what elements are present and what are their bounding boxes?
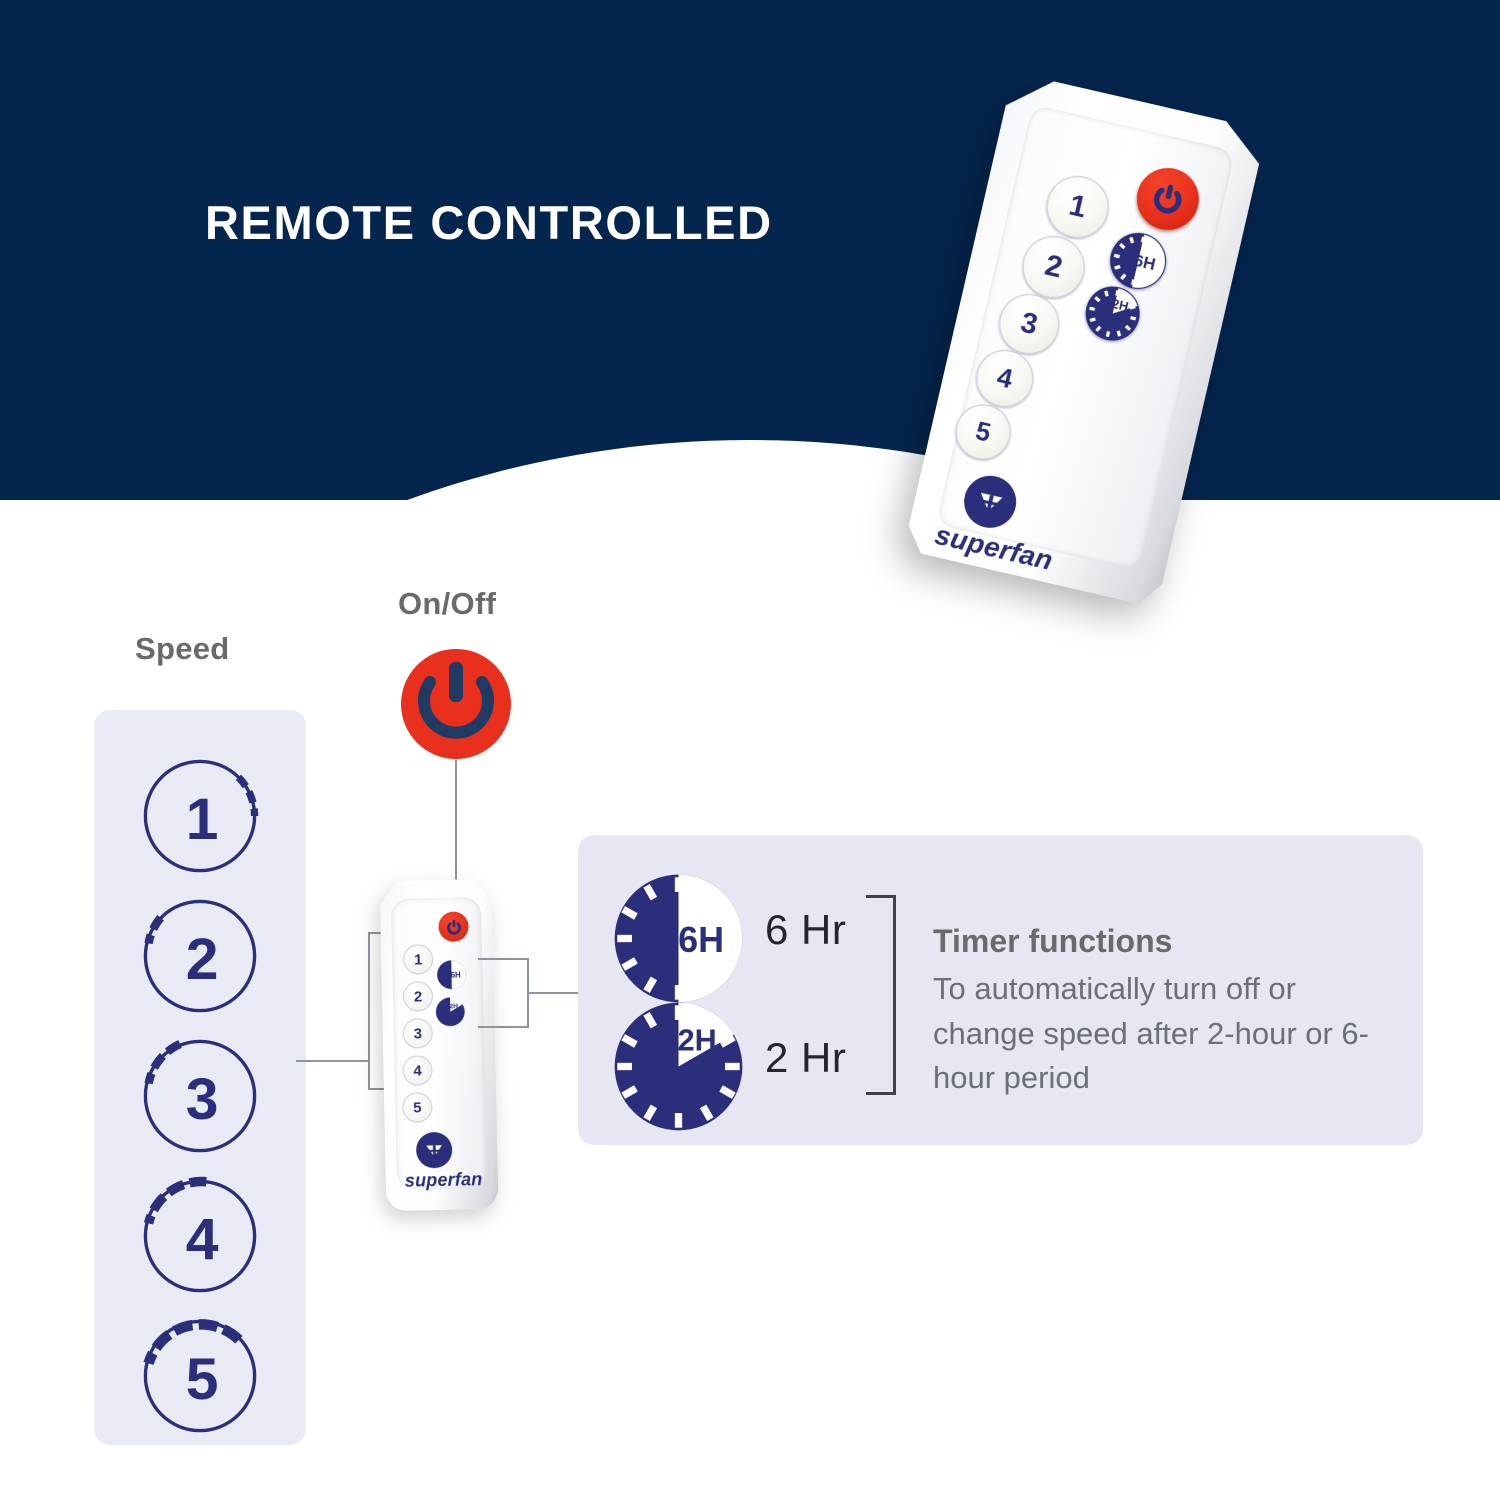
remote-speed-key-4[interactable]: 4 bbox=[971, 344, 1039, 412]
remote-brand-logo-mark bbox=[959, 471, 1021, 533]
mini-2h-badge: 2H bbox=[450, 1003, 459, 1010]
mini-key-1-label: 1 bbox=[414, 951, 423, 968]
speed-chip-5-label: 5 bbox=[186, 1347, 219, 1412]
timers-group-bracket-top bbox=[866, 895, 896, 898]
mini-remote-timer-key-2h[interactable]: 2H bbox=[435, 996, 466, 1027]
speed-chip-2: 2 bbox=[137, 893, 263, 1019]
timer-bracket-bottom-stem bbox=[478, 1026, 528, 1028]
remote-power-key[interactable] bbox=[1131, 162, 1205, 236]
mini-remote-device: 1 2 3 4 5 6H 2H bbox=[380, 879, 499, 1211]
onoff-label: On/Off bbox=[398, 582, 496, 627]
speed-chip-2-label: 2 bbox=[186, 927, 219, 992]
mini-remote-timer-key-6h[interactable]: 6H bbox=[436, 959, 467, 990]
remote-speed-key-3-label: 3 bbox=[1018, 306, 1041, 342]
power-icon bbox=[445, 918, 462, 935]
mini-key-4-label: 4 bbox=[413, 1062, 422, 1079]
speed-chip-3: 3 bbox=[137, 1033, 263, 1159]
speed-chip-1-label: 1 bbox=[186, 787, 219, 852]
timer-label-6h: 6 Hr bbox=[765, 906, 846, 954]
page-title: REMOTE CONTROLLED bbox=[205, 195, 773, 250]
timer-2h-icon: 2H bbox=[435, 996, 466, 1027]
timer-bracket-top-stem bbox=[478, 958, 528, 960]
timers-group-bracket-vertical bbox=[893, 895, 896, 1095]
remote-speed-key-4-label: 4 bbox=[994, 362, 1016, 396]
remote-timer-key-6h[interactable]: 6H bbox=[1105, 227, 1172, 294]
mini-remote-brand-wordmark: superfan bbox=[405, 1169, 483, 1192]
speed-bracket-stem bbox=[296, 1060, 370, 1062]
superfan-logo-icon bbox=[422, 1138, 446, 1162]
remote-speed-key-5[interactable]: 5 bbox=[950, 399, 1016, 465]
remote-speed-key-1[interactable]: 1 bbox=[1041, 170, 1115, 244]
speed-bracket-vertical bbox=[368, 932, 370, 1090]
superfan-logo-icon bbox=[970, 481, 1011, 522]
onoff-legend-button bbox=[400, 648, 512, 760]
timer-2h-badge-label: 2H bbox=[678, 1024, 717, 1058]
speed-label-line1: Speed bbox=[135, 631, 230, 666]
timer-info-body: To automatically turn off or change spee… bbox=[933, 967, 1403, 1101]
mini-key-2-label: 2 bbox=[414, 988, 423, 1005]
remote-timer-key-2h[interactable]: 2H bbox=[1080, 281, 1145, 346]
remote-speed-key-1-label: 1 bbox=[1066, 189, 1090, 226]
power-icon bbox=[449, 662, 463, 702]
speed-chip-4: 4 bbox=[137, 1173, 263, 1299]
timer-label-2h: 2 Hr bbox=[765, 1034, 846, 1082]
timers-group-bracket-bottom bbox=[866, 1092, 896, 1095]
timer-2h-icon: 2H bbox=[1080, 281, 1145, 346]
speed-chip-3-label: 3 bbox=[186, 1067, 219, 1132]
mini-key-3-label: 3 bbox=[413, 1025, 422, 1042]
mini-6h-badge: 6H bbox=[451, 971, 462, 980]
speed-chip-4-label: 4 bbox=[186, 1207, 219, 1272]
speed-chip-5: 5 bbox=[137, 1313, 263, 1439]
timer-icon-6h: 6H bbox=[612, 872, 745, 1010]
speed-chip-1: 1 bbox=[137, 753, 263, 879]
timer-6h-icon: 6H bbox=[1105, 227, 1172, 294]
mini-key-5-label: 5 bbox=[413, 1099, 422, 1116]
timer-6h-badge-label: 6H bbox=[678, 919, 724, 960]
power-icon bbox=[1147, 179, 1188, 220]
timer-icon-2h: 2H bbox=[612, 1000, 745, 1138]
timer-info-heading: Timer functions bbox=[933, 923, 1172, 960]
remote-speed-key-2-label: 2 bbox=[1042, 249, 1066, 286]
remote-speed-key-5-label: 5 bbox=[973, 415, 994, 448]
timer-6h-icon: 6H bbox=[436, 959, 467, 990]
